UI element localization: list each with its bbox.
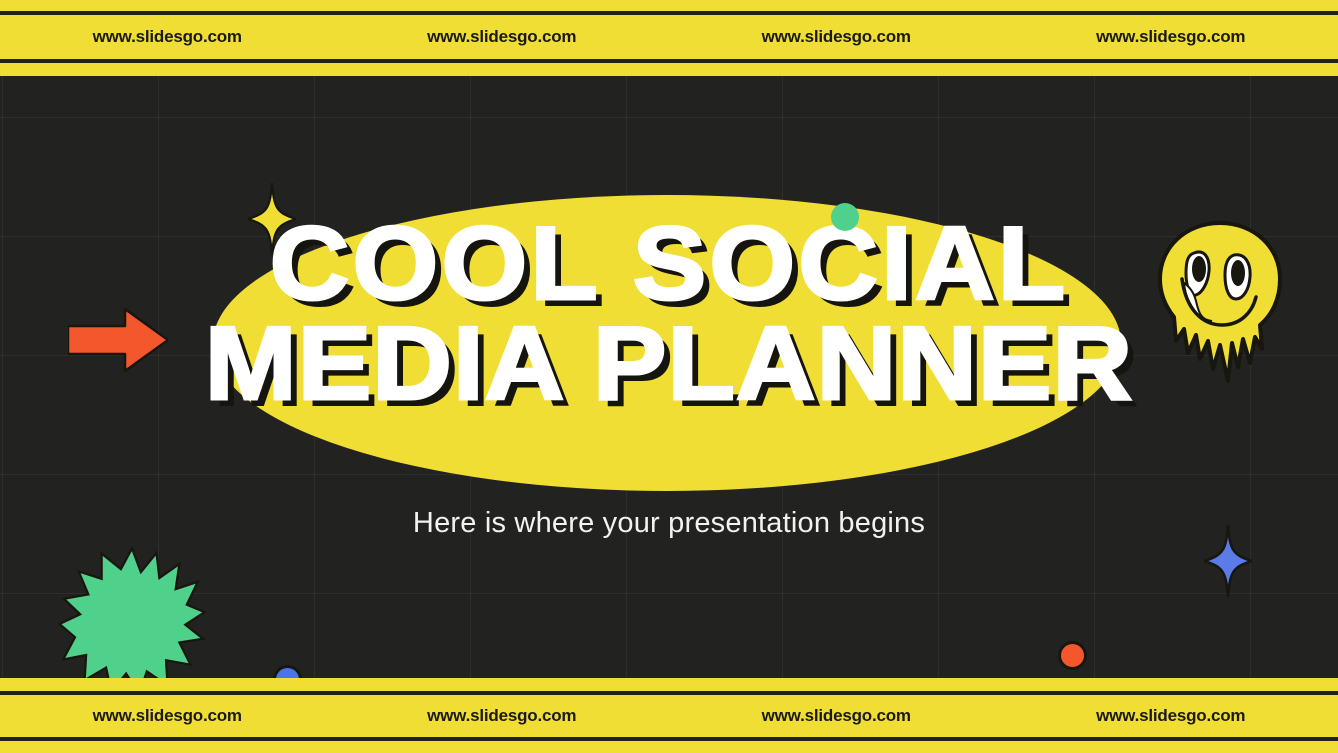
presentation-slide: www.slidesgo.com www.slidesgo.com www.sl… <box>0 0 1338 753</box>
page-title: COOL SOCIAL MEDIA PLANNER <box>0 215 1338 415</box>
yellow-sparkle-icon <box>248 183 296 255</box>
page-subtitle: Here is where your presentation begins <box>0 507 1338 540</box>
orange-dot-icon <box>1058 641 1087 670</box>
slide-body: COOL SOCIAL MEDIA PLANNER Here is where … <box>0 75 1338 679</box>
watermark-text: www.slidesgo.com <box>669 27 1004 47</box>
watermark-text: www.slidesgo.com <box>335 27 670 47</box>
top-watermark-row: www.slidesgo.com www.slidesgo.com www.sl… <box>0 15 1338 59</box>
watermark-text: www.slidesgo.com <box>335 706 670 726</box>
right-arrow-icon <box>68 307 168 373</box>
banner-rule-bottom <box>0 59 1338 63</box>
watermark-text: www.slidesgo.com <box>1004 706 1338 726</box>
watermark-text: www.slidesgo.com <box>0 27 335 47</box>
title-line-2: MEDIA PLANNER <box>0 315 1338 415</box>
watermark-text: www.slidesgo.com <box>0 706 335 726</box>
watermark-text: www.slidesgo.com <box>669 706 1004 726</box>
banner-rule-bottom <box>0 737 1338 741</box>
green-starburst-icon <box>58 545 206 697</box>
blue-sparkle-icon <box>1204 525 1252 597</box>
top-watermark-banner: www.slidesgo.com www.slidesgo.com www.sl… <box>0 0 1338 76</box>
title-line-1: COOL SOCIAL <box>0 215 1338 315</box>
bottom-watermark-banner: www.slidesgo.com www.slidesgo.com www.sl… <box>0 678 1338 753</box>
bottom-watermark-row: www.slidesgo.com www.slidesgo.com www.sl… <box>0 695 1338 737</box>
watermark-text: www.slidesgo.com <box>1004 27 1338 47</box>
melting-smiley-icon <box>1150 217 1290 387</box>
green-dot-icon <box>831 203 859 231</box>
